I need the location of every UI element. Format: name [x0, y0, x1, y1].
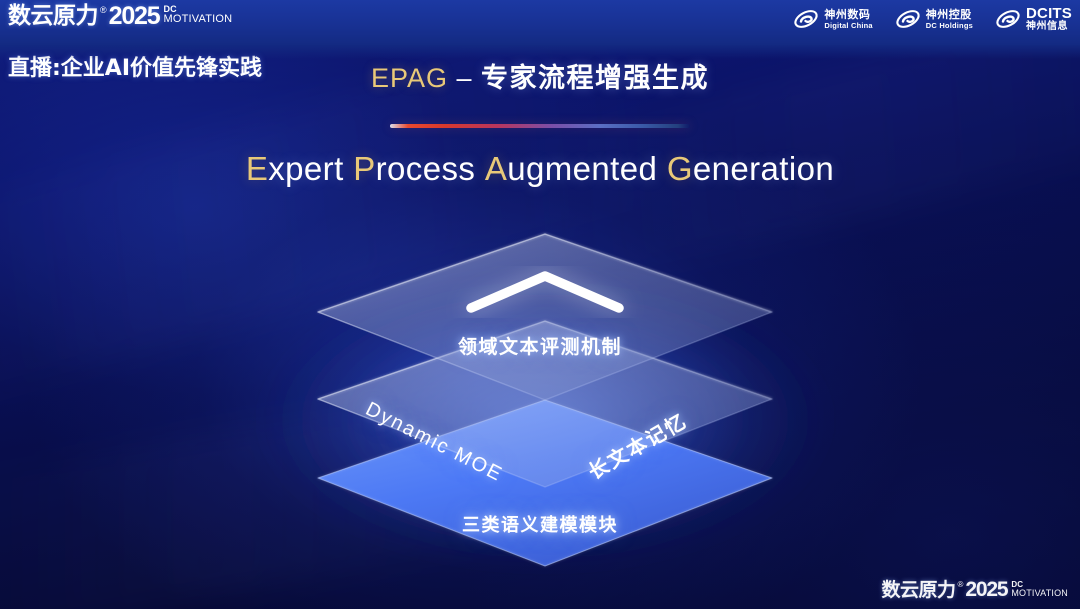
subtitle: Expert Process Augmented Generation: [0, 150, 1080, 188]
registered-mark-icon: ®: [958, 580, 964, 590]
logo-digital-china: 神州数码 Digital China: [793, 6, 872, 32]
subtitle-word: Generation: [667, 150, 834, 187]
chevron-up-icon: [471, 276, 619, 308]
brand-name-cn: 数云原力: [8, 3, 98, 29]
logo-label-cn: 神州信息: [1026, 22, 1072, 32]
registered-mark-icon: ®: [100, 4, 107, 16]
stack-layer-middle-label-left: Dynamic MOE: [362, 398, 507, 487]
logo-label-cn: 神州数码: [824, 9, 872, 20]
partner-logos: 神州数码 Digital China 神州控股 DC Holdings: [793, 6, 1072, 32]
subtitle-word-cap: A: [485, 150, 507, 187]
logo-dcits: DCITS 神州信息: [995, 6, 1072, 32]
brand-logo: 数云原力 ® 2025 DC MOTIVATION: [8, 3, 232, 29]
title-acronym: EPAG: [371, 63, 448, 93]
brand-year: 2025: [965, 579, 1007, 601]
stack-layer-top-label: 领域文本评测机制: [0, 332, 1080, 359]
stack-layer-middle-label-right: 长文本记忆: [582, 405, 692, 485]
title-chinese: 专家流程增强生成: [481, 63, 709, 94]
brand-name-cn: 数云原力: [881, 579, 955, 601]
stack-layer-bottom-label: 三类语义建模模块: [0, 511, 1080, 537]
subtitle-word-cap: E: [246, 150, 268, 187]
title-dash: –: [448, 63, 481, 93]
galaxy-swirl-icon: [895, 6, 921, 32]
slide-canvas: 领域文本评测机制 Dynamic MOE 长文本记忆 三类语义建模模块 EPAG…: [0, 0, 1080, 609]
subtitle-word: Augmented: [485, 150, 657, 187]
galaxy-swirl-icon: [793, 6, 819, 32]
galaxy-swirl-icon: [995, 6, 1021, 32]
background-sheen: [0, 379, 549, 609]
subtitle-word-cap: P: [353, 150, 375, 187]
brand-dc: DC: [163, 5, 232, 13]
subtitle-word-cap: G: [667, 150, 693, 187]
subtitle-word-rest: rocess: [376, 150, 476, 187]
brand-dc: DC: [1011, 581, 1068, 588]
stack-layer-top: [318, 234, 772, 400]
logo-label-en: DCITS: [1026, 6, 1072, 21]
subtitle-word: Process: [353, 150, 475, 187]
brand-motivation: MOTIVATION: [163, 13, 232, 25]
brand-motivation: MOTIVATION: [1011, 588, 1068, 598]
logo-label-cn: 神州控股: [926, 9, 973, 20]
title-divider: [390, 124, 690, 128]
brand-year: 2025: [109, 3, 160, 29]
subtitle-word-rest: xpert: [268, 150, 343, 187]
brand-watermark: 数云原力 ® 2025 DC MOTIVATION: [881, 579, 1068, 601]
subtitle-word-rest: ugmented: [507, 150, 657, 187]
subtitle-word: Expert: [246, 150, 344, 187]
logo-dc-holdings: 神州控股 DC Holdings: [895, 6, 973, 32]
subtitle-word-rest: eneration: [693, 150, 834, 187]
top-banner-fade: [0, 45, 1080, 59]
logo-label-en: Digital China: [824, 22, 872, 30]
logo-label-en: DC Holdings: [926, 22, 973, 30]
